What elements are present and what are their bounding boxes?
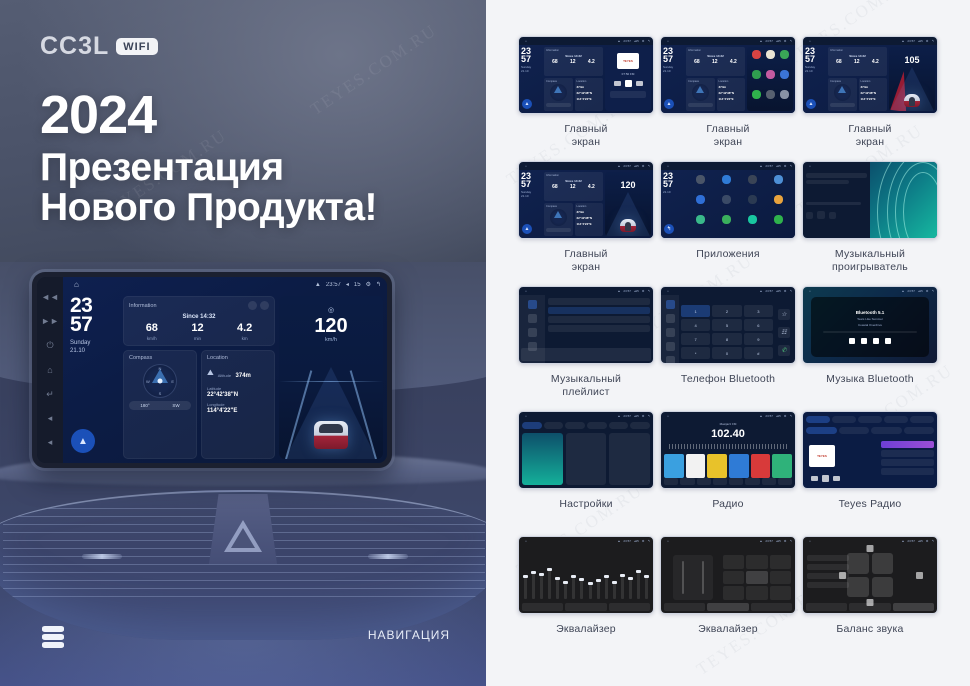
thumbnail-bt-phone[interactable]: ⌂▲23:57◂15⚙↰ 1 2 3 4 5 6 7 8 9 * 0: [660, 286, 796, 364]
thumb-compass: Compass: [544, 78, 573, 111]
settings-cards[interactable]: [522, 433, 650, 485]
car-3d-model: [904, 94, 920, 107]
thumbnail-radio[interactable]: ⌂▲23:57◂15⚙↰ Maxijazz FM 102.40: [660, 411, 796, 489]
thumb-location: Location374m22°42'38"N114°4'22"E: [717, 78, 746, 111]
dial-key: #: [744, 347, 773, 359]
more-card: [609, 433, 650, 485]
gallery-item[interactable]: ⌂▲23:57◂15⚙↰ 2357Sunday21.10▲ Informatio…: [660, 36, 796, 161]
trip-since-label: Since 14:32: [129, 314, 269, 320]
thumb-status-bar: ⌂▲23:57◂15⚙↰: [519, 162, 653, 170]
teyes-controls[interactable]: [811, 475, 840, 482]
music-visualizer: [870, 162, 937, 238]
wifi-card: [522, 433, 563, 485]
prev-track-button[interactable]: ◄◄: [45, 292, 56, 303]
thumb-status-bar: ⌂▲23:57◂15⚙↰: [519, 412, 653, 420]
longitude-row: Longitude 114°4'22"E: [207, 402, 269, 414]
home-icon[interactable]: ⌂: [74, 280, 79, 289]
thumb-clock: 235721.10↰: [663, 172, 684, 236]
gallery-item[interactable]: ⌂▲23:57◂15⚙↰ Maxijazz FM 102.40 Радио: [660, 411, 796, 536]
teyes-sub-tabs[interactable]: [803, 426, 937, 435]
headline-line-2: Нового Продукта!: [40, 188, 377, 228]
dial-key: 4: [681, 319, 710, 331]
longitude-value: 114°4'22"E: [207, 408, 269, 414]
thumb-speed-panel: 105: [889, 47, 935, 111]
equalizer-dual-sliders[interactable]: [673, 555, 713, 600]
thumb-media-panel: TEYES 07:50 FM: [605, 47, 651, 111]
thumbnail-music-player[interactable]: ⌂▲23:57◂15⚙↰: [802, 161, 938, 239]
screenshot-gallery-panel: TEYES.COM.RU TEYES.COM.RU TEYES.COM.RU T…: [486, 0, 970, 686]
thumb-speed-value: 120: [605, 180, 651, 190]
thumbnail-caption: Главныйэкран: [848, 123, 891, 149]
thumb-apps-body: 235721.10↰: [661, 170, 795, 238]
home-screen-body: 23 57 Sunday 21.10 ▲ Information: [63, 292, 387, 463]
teyes-top-tabs[interactable]: [803, 415, 937, 424]
thumbnail-caption: Радио: [712, 498, 743, 511]
thumb-widgets: Information Since 14:32 68124.2 Compass …: [828, 47, 887, 111]
trip-time-value: 12: [191, 323, 203, 334]
trip-stats-row: 68 km/h 12 min 4.2: [129, 323, 269, 341]
equalizer-tabs[interactable]: [522, 603, 650, 611]
longitude-label: Longitude: [207, 402, 269, 407]
radio-tuning-dial[interactable]: [669, 444, 787, 449]
compass-n: N: [159, 366, 162, 371]
altitude-value: 374m: [236, 373, 251, 379]
dial-pad[interactable]: 1 2 3 4 5 6 7 8 9 * 0 #: [681, 305, 773, 359]
equalizer-sliders[interactable]: [524, 557, 648, 599]
bt-artist: Coastal Overdrive: [858, 323, 882, 327]
trip-speed-unit: km/h: [146, 336, 158, 341]
thumb-clock: 2357Sunday21.10▲: [805, 47, 826, 111]
gallery-item[interactable]: ⌂▲23:57◂15⚙↰ Музыкальныйплейлист: [518, 286, 654, 411]
compass-widget[interactable]: Compass N E S W: [123, 350, 197, 459]
thumbnail-teyes-radio[interactable]: TEYES: [802, 411, 938, 489]
track-time: 07:50 FM: [622, 72, 635, 76]
album-art: TEYES: [617, 53, 639, 69]
thumb-status-bar: ⌂▲23:57◂15⚙↰: [661, 162, 795, 170]
thumbnail-caption: Главныйэкран: [564, 123, 607, 149]
navigation-arrow-icon[interactable]: ▲: [522, 224, 532, 234]
contacts-icon: ☷: [778, 327, 790, 338]
clock-column: 23 57 Sunday 21.10 ▲: [67, 296, 119, 459]
gallery-item[interactable]: ⌂▲23:57◂15⚙↰ Настройки: [518, 411, 654, 536]
thumb-compass: Compass: [828, 78, 857, 111]
thumbnail-settings[interactable]: ⌂▲23:57◂15⚙↰: [518, 411, 654, 489]
navigation-arrow-icon[interactable]: ▲: [664, 99, 674, 109]
status-time: 23:57: [326, 282, 341, 288]
thumb-status-bar: ⌂▲23:57◂15⚙↰: [803, 537, 937, 545]
thumbnail-sound-balance[interactable]: ⌂▲23:57◂15⚙↰: [802, 536, 938, 614]
thumb-lower-widgets: Compass Location374m22°42'38"N114°4'22"E: [686, 78, 745, 111]
location-widget[interactable]: Location ⛰ Altitude 374m: [201, 350, 275, 459]
thumb-apps-panel: [747, 47, 793, 111]
gallery-item[interactable]: ⌂▲23:57◂15⚙↰ 235721.10↰ Приложения: [660, 161, 796, 286]
altitude-label: Altitude: [218, 373, 231, 378]
gallery-item[interactable]: ⌂▲23:57◂15⚙↰ Баланс звука: [802, 536, 938, 661]
thumb-location: Location374m22°42'38"N114°4'22"E: [575, 203, 604, 236]
thumb-status-bar: ⌂▲23:57◂15⚙↰: [519, 37, 653, 45]
thumbnail-caption: Баланс звука: [836, 623, 903, 636]
headline-year: 2024: [40, 88, 377, 144]
gallery-item[interactable]: ⌂▲23:57◂15⚙↰ Музыкальныйпроигрыватель: [802, 161, 938, 286]
head-unit-bezel: ◄◄ ►► ⏻ ⌂ ↵ ◂ ◂ ⌂ ▲ 23:57: [37, 277, 387, 463]
compass-w: W: [146, 379, 150, 384]
thumb-lower-widgets: Compass Location374m22°42'38"N114°4'22"E: [828, 78, 887, 111]
thumb-widgets: Information Since 14:32 68124.2 Compass …: [544, 47, 603, 111]
wifi-icon: ▲: [315, 282, 321, 288]
compass-title: Compass: [129, 355, 191, 361]
compass-direction: SW: [172, 403, 179, 408]
thumb-status-bar: ⌂▲23:57◂15⚙↰: [803, 37, 937, 45]
bt-track: Tears Like Summer: [857, 317, 883, 321]
equalizer-preset-pads[interactable]: [723, 555, 791, 600]
volume-up-button[interactable]: ◂: [45, 437, 56, 448]
speed-value: 120: [279, 316, 383, 336]
dial-key: 1: [681, 305, 710, 317]
thumb-location: Location374m22°42'38"N114°4'22"E: [859, 78, 888, 111]
thumbnail-caption: Музыка Bluetooth: [826, 373, 914, 386]
thumb-information-card: Information Since 14:32 68124.2: [544, 47, 603, 76]
compass-needle: [158, 379, 163, 384]
gallery-item[interactable]: ⌂▲23:57◂15⚙↰ 2357Sunday21.10▲ Informatio…: [518, 161, 654, 286]
widget-column: Information Since 14:32 68: [123, 296, 275, 459]
thumbnail-caption: Эквалайзер: [556, 623, 616, 636]
player-controls[interactable]: [806, 211, 867, 221]
balance-left-button[interactable]: [839, 572, 846, 579]
thumb-status-bar: ⌂▲23:57◂15⚙↰: [519, 537, 653, 545]
gallery-item[interactable]: TEYES Teyes Радио: [802, 411, 938, 536]
presentation-page: TEYES.COM.RU TEYES.COM.RU TEYES.COM.RU T…: [0, 0, 970, 686]
headline-line-1: Презентация: [40, 148, 377, 188]
bt-progress[interactable]: [823, 331, 917, 333]
location-title: Location: [207, 355, 269, 361]
dial-key: *: [681, 347, 710, 359]
navigation-arrow-icon[interactable]: ▲: [806, 99, 816, 109]
dial-actions[interactable]: ☆☷✆: [775, 305, 793, 359]
thumbnail-home-speed-2[interactable]: ⌂▲23:57◂15⚙↰ 2357Sunday21.10▲ Informatio…: [518, 161, 654, 239]
wifi-badge: WIFI: [116, 38, 157, 55]
volume-icon[interactable]: ◂: [346, 281, 349, 288]
head-unit-device: ◄◄ ►► ⏻ ⌂ ↵ ◂ ◂ ⌂ ▲ 23:57: [32, 272, 392, 468]
gallery-item[interactable]: ⌂▲23:57◂15⚙↰ 2357Sunday21.10▲ Informatio…: [518, 36, 654, 161]
information-header: Information: [129, 301, 269, 310]
thumb-status-bar: ⌂▲23:57◂15⚙↰: [661, 287, 795, 295]
compass-dial: N E S W: [143, 364, 177, 398]
head-unit-screen[interactable]: ⌂ ▲ 23:57 ◂ 15 ⚙ ↰ 23 57: [63, 277, 387, 463]
hazard-triangle-inner: [231, 528, 255, 548]
radio-toolbar[interactable]: [664, 478, 792, 485]
call-icon: ✆: [778, 345, 790, 356]
gear-icon[interactable]: ⚙: [366, 281, 371, 288]
app-icon-grid[interactable]: [686, 172, 793, 236]
home-button[interactable]: ⌂: [45, 364, 56, 375]
information-title: Information: [129, 303, 157, 309]
thumb-information-card: Information Since 14:32 68124.2: [828, 47, 887, 76]
trip-distance-value: 4.2: [237, 323, 252, 334]
gallery-item[interactable]: ⌂▲23:57◂15⚙↰ Эквалайзер: [518, 536, 654, 661]
speed-unit: km/h: [279, 337, 383, 343]
thumbnail-equalizer-bars[interactable]: ⌂▲23:57◂15⚙↰: [518, 536, 654, 614]
favorite-icon: ☆: [778, 309, 790, 320]
radio-frequency: 102.40: [661, 428, 795, 440]
carplay-card: [566, 433, 607, 485]
back-icon[interactable]: ↰: [664, 224, 674, 234]
latitude-value: 22°42'38"N: [207, 392, 269, 398]
radio-presets[interactable]: [664, 454, 792, 478]
thumbnail-caption: Teyes Радио: [839, 498, 902, 511]
thumb-home-body: 2357Sunday21.10▲ Information Since 14:32…: [661, 45, 795, 113]
thumb-speed-value: 105: [889, 55, 935, 65]
thumb-home-body: 2357Sunday21.10▲ Information Since 14:32…: [519, 45, 653, 113]
latitude-row: Latitude 22°42'38"N: [207, 386, 269, 398]
thumb-clock: 2357Sunday21.10▲: [521, 47, 542, 111]
thumb-status-bar: ⌂▲23:57◂15⚙↰: [519, 287, 653, 295]
thumbnail-bt-music[interactable]: ⌂▲23:57◂15⚙↰ Bluetooth 5.1 Tears Like Su…: [802, 286, 938, 364]
thumb-lower-widgets: Compass Location374m22°42'38"N114°4'22"E: [544, 203, 603, 236]
car-3d-model: [314, 421, 348, 449]
next-track-button[interactable]: ►►: [45, 316, 56, 327]
thumbnail-caption: Музыкальныйпроигрыватель: [832, 248, 908, 274]
thumb-clock: 2357Sunday21.10▲: [521, 172, 542, 236]
dial-key: 0: [712, 347, 741, 359]
thumb-status-bar: ⌂▲23:57◂15⚙↰: [661, 537, 795, 545]
clock-weekday: Sunday: [70, 339, 119, 347]
trip-time-unit: min: [191, 336, 203, 341]
thumbnail-caption: Главныйэкран: [564, 248, 607, 274]
trip-stat: 12 min: [191, 323, 203, 341]
car-interior-illustration: ◄◄ ►► ⏻ ⌂ ↵ ◂ ◂ ⌂ ▲ 23:57: [0, 262, 486, 686]
thumb-compass: Compass: [544, 203, 573, 236]
clock-minutes: 57: [70, 315, 119, 334]
compass-heading: 180°: [140, 403, 149, 408]
bt-now-playing-card: Bluetooth 5.1 Tears Like Summer Coastal …: [811, 297, 929, 357]
media-card: TEYES 07:50 FM: [605, 47, 651, 111]
thumb-widgets: Information Since 14:32 68124.2 Compass …: [544, 172, 603, 236]
back-arrow-icon[interactable]: ↰: [376, 281, 381, 288]
vent-highlight-right: [368, 554, 408, 559]
altitude-row: ⛰ Altitude 374m: [207, 364, 269, 382]
dial-key: 6: [744, 319, 773, 331]
status-bar: ⌂ ▲ 23:57 ◂ 15 ⚙ ↰: [63, 277, 387, 292]
thumb-compass: Compass: [686, 78, 715, 111]
thumbnail-apps[interactable]: ⌂▲23:57◂15⚙↰ 235721.10↰: [660, 161, 796, 239]
thumb-information-card: Information Since 14:32 68124.2: [686, 47, 745, 76]
phone-sidebar[interactable]: [661, 295, 679, 363]
thumbnail-caption: Телефон Bluetooth: [681, 373, 775, 386]
dial-key: 3: [744, 305, 773, 317]
navigation-arrow-icon[interactable]: ▲: [71, 429, 95, 453]
information-widget[interactable]: Information Since 14:32 68: [123, 296, 275, 346]
media-controls[interactable]: [614, 80, 643, 87]
station-art: TEYES: [809, 445, 835, 467]
thumbnail-caption: Музыкальныйплейлист: [551, 373, 621, 399]
layers-icon[interactable]: [42, 626, 64, 648]
lower-widgets-row: Compass N E S W: [123, 350, 275, 459]
thumb-status-bar: ⌂▲23:57◂15⚙↰: [661, 412, 795, 420]
speed-hud-widget[interactable]: ◎ 120 km/h: [279, 296, 383, 459]
thumbnail-home-apps[interactable]: ⌂▲23:57◂15⚙↰ 2357Sunday21.10▲ Informatio…: [660, 36, 796, 114]
thumb-widgets: Information Since 14:32 68124.2 Compass …: [686, 47, 745, 111]
thumb-location: Location374m22°42'38"N114°4'22"E: [575, 78, 604, 111]
equalizer-tabs[interactable]: [664, 603, 792, 611]
expand-icon[interactable]: [260, 301, 269, 310]
compass-e: E: [171, 379, 174, 384]
nav-section-label: НАВИГАЦИЯ: [368, 628, 450, 642]
mountain-icon: ⛰: [207, 368, 214, 378]
balance-fader-pad[interactable]: [847, 553, 893, 597]
product-name: CC3L: [40, 32, 109, 61]
trip-stat: 4.2 km: [237, 323, 252, 341]
gallery-item[interactable]: ⌂▲23:57◂15⚙↰ Bluetooth 5.1 Tears Like Su…: [802, 286, 938, 411]
thumb-clock: 2357Sunday21.10▲: [663, 47, 684, 111]
thumb-status-bar: ⌂▲23:57◂15⚙↰: [803, 287, 937, 295]
now-playing-info: [803, 170, 870, 238]
vent-highlight-left: [82, 554, 122, 559]
car-3d-model: [620, 219, 636, 232]
app-icon-grid[interactable]: [747, 47, 793, 111]
compass-s: S: [159, 391, 162, 396]
balance-tabs[interactable]: [806, 603, 934, 611]
hardware-button-rail[interactable]: ◄◄ ►► ⏻ ⌂ ↵ ◂ ◂: [37, 277, 63, 463]
gallery-item[interactable]: ⌂▲23:57◂15⚙↰ Эквалайзер: [660, 536, 796, 661]
thumb-home-body: 2357Sunday21.10▲ Information Since 14:32…: [519, 170, 653, 238]
thumbnail-home-media[interactable]: ⌂▲23:57◂15⚙↰ 2357Sunday21.10▲ Informatio…: [518, 36, 654, 114]
speedometer-icon: ◎: [328, 306, 334, 314]
compass-readout: 180° SW: [129, 401, 191, 410]
dial-key: 5: [712, 319, 741, 331]
thumbnail-playlist[interactable]: ⌂▲23:57◂15⚙↰: [518, 286, 654, 364]
thumb-home-body: 2357Sunday21.10▲ Information Since 14:32…: [803, 45, 937, 113]
refresh-icon[interactable]: [248, 301, 257, 310]
thumbnail-caption: Настройки: [559, 498, 612, 511]
thumb-lower-widgets: Compass Location374m22°42'38"N114°4'22"E: [544, 78, 603, 111]
power-button[interactable]: ⏻: [45, 340, 56, 351]
gallery-item[interactable]: ⌂▲23:57◂15⚙↰ 1 2 3 4 5 6 7 8 9 * 0: [660, 286, 796, 411]
balance-front-button[interactable]: [867, 545, 874, 552]
thumbnail-caption: Приложения: [696, 248, 759, 261]
latitude-label: Latitude: [207, 386, 269, 391]
thumb-speed-panel: 120: [605, 172, 651, 236]
gallery-item[interactable]: ⌂▲23:57◂15⚙↰ 2357Sunday21.10▲ Informatio…: [802, 36, 938, 161]
trip-speed-value: 68: [146, 323, 158, 334]
thumbnail-caption: Эквалайзер: [698, 623, 758, 636]
trip-distance-unit: km: [237, 336, 252, 341]
dial-key: 9: [744, 333, 773, 345]
trip-stat: 68 km/h: [146, 323, 158, 341]
navigation-arrow-icon[interactable]: ▲: [522, 99, 532, 109]
dial-key: 2: [712, 305, 741, 317]
back-button[interactable]: ↵: [45, 389, 56, 400]
mini-player-bar[interactable]: [521, 348, 651, 361]
radio-band-label: Maxijazz FM: [661, 422, 795, 426]
dial-key: 7: [681, 333, 710, 345]
thumb-information-card: Information Since 14:32 68124.2: [544, 172, 603, 201]
clock-date: 21.10: [70, 347, 119, 355]
bt-controls[interactable]: [849, 338, 891, 344]
thumbnail-home-speed[interactable]: ⌂▲23:57◂15⚙↰ 2357Sunday21.10▲ Informatio…: [802, 36, 938, 114]
thumbnail-caption: Главныйэкран: [706, 123, 749, 149]
thumb-status-bar: ⌂▲23:57◂15⚙↰: [661, 37, 795, 45]
balance-right-button[interactable]: [916, 572, 923, 579]
settings-tabs[interactable]: [519, 421, 653, 430]
product-logo: CC3L WIFI: [40, 32, 158, 61]
hero-headline: 2024 Презентация Нового Продукта!: [40, 88, 377, 228]
dial-key: 8: [712, 333, 741, 345]
thumbnail-equalizer-pads[interactable]: ⌂▲23:57◂15⚙↰: [660, 536, 796, 614]
media-toolbar[interactable]: [610, 91, 646, 98]
left-hero-panel: TEYES.COM.RU TEYES.COM.RU TEYES.COM.RU T…: [0, 0, 486, 686]
progress-bar[interactable]: [806, 202, 861, 205]
thumbnail-grid: ⌂▲23:57◂15⚙↰ 2357Sunday21.10▲ Informatio…: [486, 36, 970, 661]
volume-down-button[interactable]: ◂: [45, 413, 56, 424]
station-list[interactable]: [878, 438, 937, 488]
volume-level: 15: [354, 282, 361, 288]
bt-title: Bluetooth 5.1: [856, 310, 885, 315]
